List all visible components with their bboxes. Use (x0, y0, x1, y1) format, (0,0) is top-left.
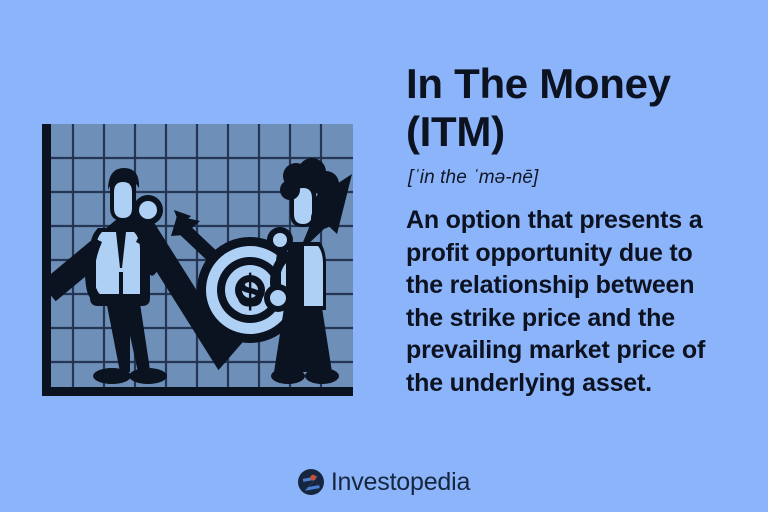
investopedia-logo-mark (298, 469, 324, 495)
pronunciation-text: [ˈin the ˈmə-nē] (408, 166, 736, 190)
dollar-sign-label: $ (237, 265, 263, 317)
definition-text: An option that presents a profit opportu… (406, 204, 736, 399)
chart-axis-y (42, 124, 51, 396)
term-title: In The Money (ITM) (406, 60, 736, 156)
chart-axis-x (42, 387, 353, 396)
definition-panel: In The Money (ITM) [ˈin the ˈmə-nē] An o… (406, 60, 736, 399)
brand-footer: Investopedia (0, 468, 768, 496)
infographic-card: $ (0, 0, 768, 512)
brand-name-label: Investopedia (331, 468, 470, 496)
stock-chart-illustration: $ (34, 122, 358, 403)
